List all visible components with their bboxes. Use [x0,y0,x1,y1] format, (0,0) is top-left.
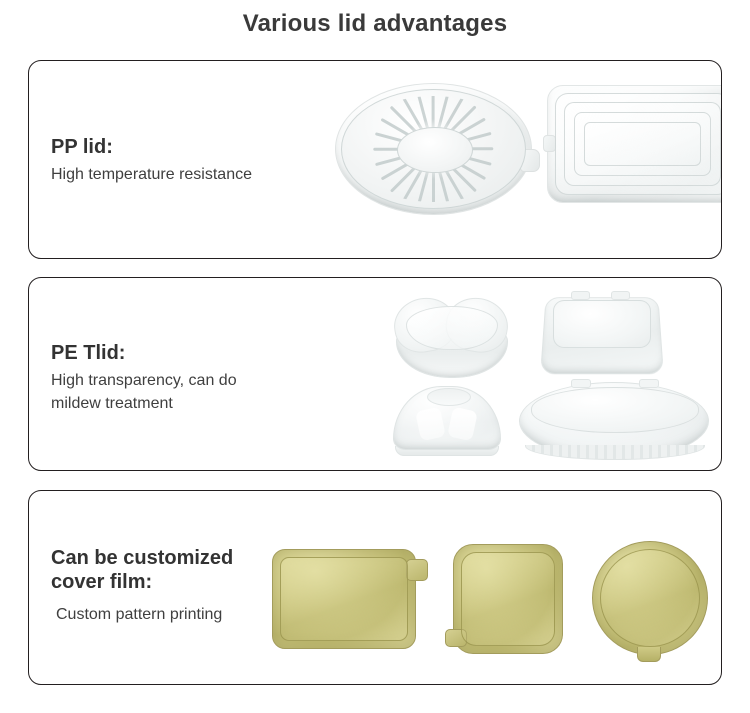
rectangular-gold-foil-lid-image [272,549,416,649]
lid-skirt [525,445,705,460]
heart-pe-lid-image [392,296,510,382]
foil-tab [637,647,661,662]
panel-foil-heading: Can be customized cover film: [51,547,233,594]
panel-pp-heading: PP lid: [51,136,252,160]
panel-pp-lid: PP lid: High temperature resistance [28,60,722,259]
lid-tab [611,291,630,300]
panel-pe-text-block: PE Tlid: High transparency, can do milde… [51,342,237,415]
round-pp-lid-image [335,83,532,215]
foil-tab [406,559,428,581]
lid-tab [571,291,590,300]
lid-tab [571,379,591,388]
square-gold-foil-lid-image [453,544,563,654]
foil-inner-panel [280,557,408,641]
panel-pe-description: High transparency, can do mildew treatme… [51,369,237,415]
lid-tab [639,379,659,388]
lid-face [531,387,699,433]
lid-center-hub [397,127,473,173]
panel-foil-text-block: Can be customized cover film: Custom pat… [51,547,233,626]
panel-foil-description: Custom pattern printing [51,603,233,626]
panel-cover-film: Can be customized cover film: Custom pat… [28,490,722,685]
dome-cup-lid-image [393,386,499,456]
rectangular-pp-lid-image [547,85,722,203]
lid-face [553,300,651,348]
lid-dome [393,386,501,450]
panel-pp-description: High temperature resistance [51,163,252,186]
lid-top-opening [427,388,471,406]
square-pe-lid-image [543,294,661,374]
lid-face [406,306,498,350]
foil-inner-panel [600,549,700,647]
panel-pp-text-block: PP lid: High temperature resistance [51,136,252,186]
panel-pe-heading: PE Tlid: [51,342,237,366]
round-gold-foil-lid-image [592,541,708,655]
lid-ring [584,122,701,166]
oval-pe-lid-image [519,382,709,460]
page-title: Various lid advantages [0,10,750,38]
foil-inner-panel [461,552,555,646]
lid-highlight [447,407,478,442]
panel-pe-tlid: PE Tlid: High transparency, can do milde… [28,277,722,471]
lid-highlight [415,407,446,442]
